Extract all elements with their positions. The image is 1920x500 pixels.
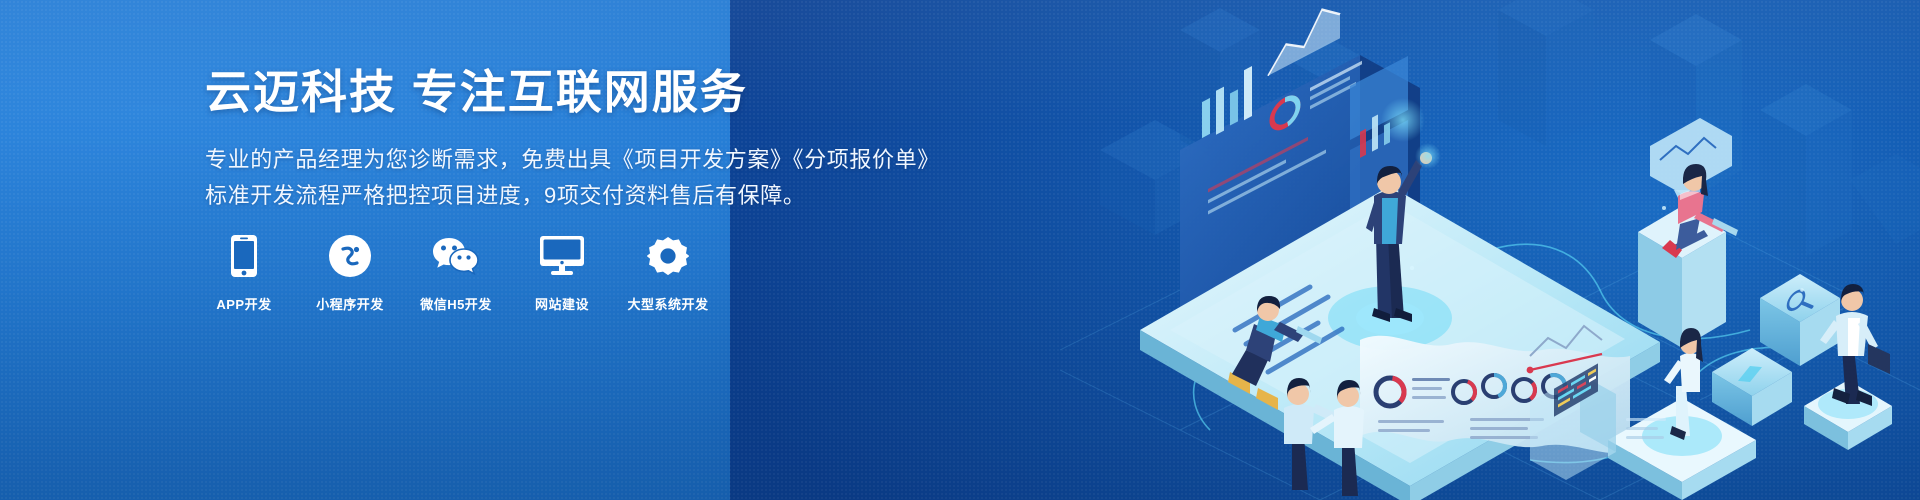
service-item-mini-program[interactable]: 小程序开发 <box>311 232 389 313</box>
gear-icon <box>647 232 689 280</box>
subtitle-line-2: 标准开发流程严格把控项目进度，9项交付资料售后有保障。 <box>205 178 905 214</box>
mini-program-icon <box>329 232 371 280</box>
service-list: APP开发 小程序开发 <box>205 232 707 313</box>
service-item-large-system[interactable]: 大型系统开发 <box>629 232 707 313</box>
service-item-wechat-h5[interactable]: 微信H5开发 <box>417 232 495 313</box>
service-label: 微信H5开发 <box>420 294 492 313</box>
mobile-phone-icon <box>231 232 257 280</box>
service-label: 小程序开发 <box>316 294 384 313</box>
subtitle-line-1: 专业的产品经理为您诊断需求，免费出具《项目开发方案》《分项报价单》 <box>205 142 905 178</box>
wechat-icon <box>432 232 480 280</box>
pedestal-with-laptop-woman <box>1638 118 1738 348</box>
search-cube <box>1760 274 1840 366</box>
service-label: 网站建设 <box>535 294 589 313</box>
service-label: APP开发 <box>216 294 271 313</box>
page-title: 云迈科技 专注互联网服务 <box>205 68 905 116</box>
monitor-icon <box>540 232 584 280</box>
service-item-app[interactable]: APP开发 <box>205 232 283 313</box>
hero-banner: 云迈科技 专注互联网服务 专业的产品经理为您诊断需求，免费出具《项目开发方案》《… <box>0 0 1920 500</box>
service-label: 大型系统开发 <box>628 294 709 313</box>
service-item-website[interactable]: 网站建设 <box>523 232 601 313</box>
banner-text-block: 云迈科技 专注互联网服务 专业的产品经理为您诊断需求，免费出具《项目开发方案》《… <box>205 68 905 214</box>
isometric-tech-illustration <box>1060 0 1920 500</box>
